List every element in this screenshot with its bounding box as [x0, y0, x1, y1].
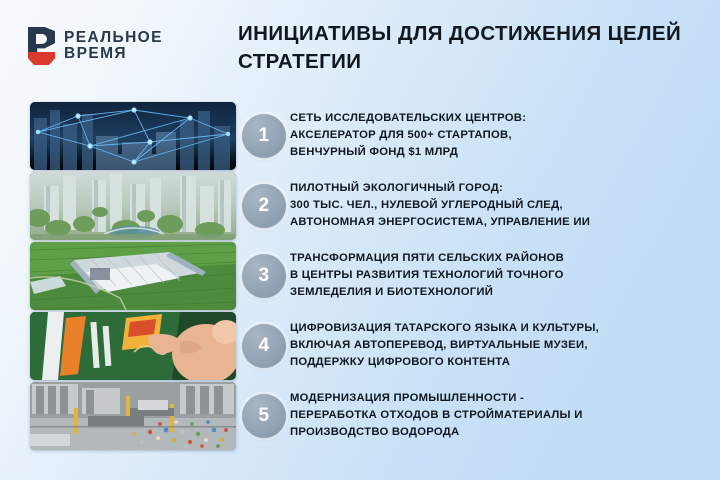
item-line: МОДЕРНИЗАЦИЯ ПРОМЫШЛЕННОСТИ -: [290, 390, 696, 407]
item-line: АКСЕЛЕРАТОР ДЛЯ 500+ СТАРТАПОВ,: [290, 127, 696, 144]
brand-logo: РЕАЛЬНОЕ ВРЕМЯ: [28, 27, 163, 65]
tatar-language-textbook-photo: [30, 312, 236, 380]
waste-recycling-plant-photo: [30, 382, 236, 450]
item-line: АВТОНОМНАЯ ЭНЕРГОСИСТЕМА, УПРАВЛЕНИЕ ИИ: [290, 214, 696, 231]
list-item: 3 ТРАНСФОРМАЦИЯ ПЯТИ СЕЛЬСКИХ РАЙОНОВ В …: [0, 242, 720, 312]
item-number-badge: 3: [242, 254, 286, 298]
item-number-badge: 1: [242, 114, 286, 158]
item-line: В ЦЕНТРЫ РАЗВИТИЯ ТЕХНОЛОГИЙ ТОЧНОГО: [290, 267, 696, 284]
list-item: 5 МОДЕРНИЗАЦИЯ ПРОМЫШЛЕННОСТИ - ПЕРЕРАБО…: [0, 382, 720, 452]
brand-wordmark: РЕАЛЬНОЕ ВРЕМЯ: [64, 30, 163, 62]
item-line: СЕТЬ ИССЛЕДОВАТЕЛЬСКИХ ЦЕНТРОВ:: [290, 110, 696, 127]
smart-city-network-photo: [30, 102, 236, 170]
infographic-poster: РЕАЛЬНОЕ ВРЕМЯ ИНИЦИАТИВЫ ДЛЯ ДОСТИЖЕНИЯ…: [0, 0, 720, 480]
item-line: ПОДДЕРЖКУ ЦИФРОВОГО КОНТЕНТА: [290, 354, 696, 371]
item-number-badge: 2: [242, 184, 286, 228]
list-item: 4 ЦИФРОВИЗАЦИЯ ТАТАРСКОГО ЯЗЫКА И КУЛЬТУ…: [0, 312, 720, 382]
item-line: ПЕРЕРАБОТКА ОТХОДОВ В СТРОЙМАТЕРИАЛЫ И: [290, 407, 696, 424]
item-text: ПИЛОТНЫЙ ЭКОЛОГИЧНЫЙ ГОРОД: 300 ТЫС. ЧЕЛ…: [290, 180, 696, 231]
eco-city-skyline-photo: [30, 172, 236, 240]
item-text: ЦИФРОВИЗАЦИЯ ТАТАРСКОГО ЯЗЫКА И КУЛЬТУРЫ…: [290, 320, 696, 371]
list-item: 2 ПИЛОТНЫЙ ЭКОЛОГИЧНЫЙ ГОРОД: 300 ТЫС. Ч…: [0, 172, 720, 242]
item-line: ВКЛЮЧАЯ АВТОПЕРЕВОД, ВИРТУАЛЬНЫЕ МУЗЕИ,: [290, 337, 696, 354]
item-line: ПРОИЗВОДСТВО ВОДОРОДА: [290, 424, 696, 441]
item-number-badge: 4: [242, 324, 286, 368]
greenhouse-agro-complex-photo: [30, 242, 236, 310]
item-text: ТРАНСФОРМАЦИЯ ПЯТИ СЕЛЬСКИХ РАЙОНОВ В ЦЕ…: [290, 250, 696, 301]
item-line: ЦИФРОВИЗАЦИЯ ТАТАРСКОГО ЯЗЫКА И КУЛЬТУРЫ…: [290, 320, 696, 337]
list-item: 1 СЕТЬ ИССЛЕДОВАТЕЛЬСКИХ ЦЕНТРОВ: АКСЕЛЕ…: [0, 102, 720, 172]
header: РЕАЛЬНОЕ ВРЕМЯ ИНИЦИАТИВЫ ДЛЯ ДОСТИЖЕНИЯ…: [0, 0, 720, 92]
item-text: СЕТЬ ИССЛЕДОВАТЕЛЬСКИХ ЦЕНТРОВ: АКСЕЛЕРА…: [290, 110, 696, 161]
item-line: 300 ТЫС. ЧЕЛ., НУЛЕВОЙ УГЛЕРОДНЫЙ СЛЕД,: [290, 197, 696, 214]
item-line: ПИЛОТНЫЙ ЭКОЛОГИЧНЫЙ ГОРОД:: [290, 180, 696, 197]
brand-line-1: РЕАЛЬНОЕ: [64, 30, 163, 46]
item-line: ЗЕМЛЕДЕЛИЯ И БИОТЕХНОЛОГИЙ: [290, 284, 696, 301]
initiatives-list: 1 СЕТЬ ИССЛЕДОВАТЕЛЬСКИХ ЦЕНТРОВ: АКСЕЛЕ…: [0, 102, 720, 452]
item-text: МОДЕРНИЗАЦИЯ ПРОМЫШЛЕННОСТИ - ПЕРЕРАБОТК…: [290, 390, 696, 441]
stylized-r-logo-icon: [28, 27, 55, 65]
item-line: ВЕНЧУРНЫЙ ФОНД $1 МЛРД: [290, 144, 696, 161]
page-title: ИНИЦИАТИВЫ ДЛЯ ДОСТИЖЕНИЯ ЦЕЛЕЙ СТРАТЕГИ…: [238, 20, 698, 77]
brand-line-2: ВРЕМЯ: [64, 46, 163, 62]
item-number-badge: 5: [242, 394, 286, 438]
item-line: ТРАНСФОРМАЦИЯ ПЯТИ СЕЛЬСКИХ РАЙОНОВ: [290, 250, 696, 267]
